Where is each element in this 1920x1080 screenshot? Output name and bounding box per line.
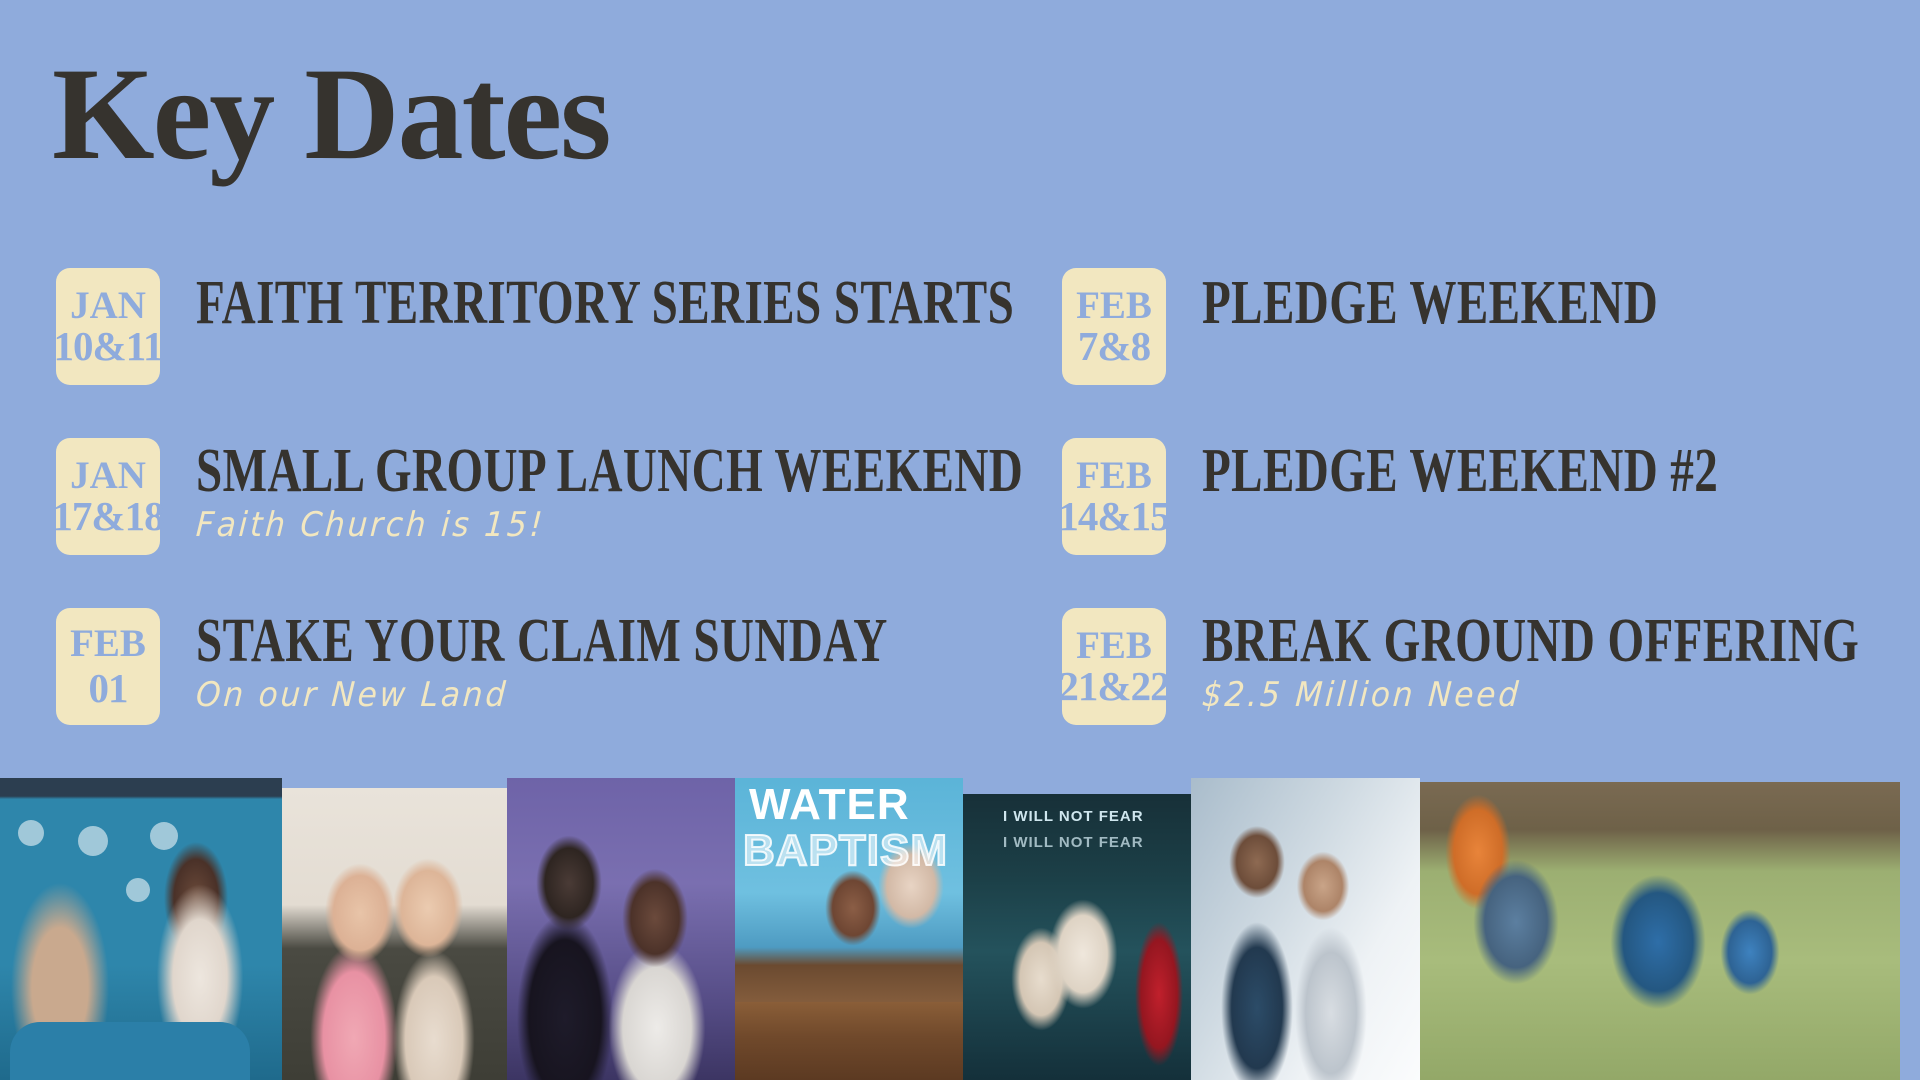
date-badge: JAN 17&18 xyxy=(56,438,160,555)
baptism-overlay-top: WATER xyxy=(749,784,910,826)
key-dates-slide: Key Dates JAN 10&11 FAITH TERRITORY SERI… xyxy=(0,0,1920,1080)
event-heading: BREAK GROUND OFFERING xyxy=(1202,610,1749,673)
badge-day: 01 xyxy=(89,667,128,710)
event-subtitle: Faith Church is 15! xyxy=(195,507,1025,544)
date-text-block: FAITH TERRITORY SERIES STARTS xyxy=(196,272,1096,335)
logo-dot-icon xyxy=(126,878,150,902)
date-badge: JAN 10&11 xyxy=(56,268,160,385)
date-badge: FEB 21&22 xyxy=(1062,608,1166,725)
badge-day: 14&15 xyxy=(1058,495,1169,538)
photo-content xyxy=(1191,778,1420,1080)
badge-month: FEB xyxy=(70,625,146,663)
stage-screen-line-2: I WILL NOT FEAR xyxy=(1003,834,1144,851)
baptism-tank-shape xyxy=(735,1002,963,1080)
date-text-block: SMALL GROUP LAUNCH WEEKEND Faith Church … xyxy=(196,440,1096,545)
badge-day: 21&22 xyxy=(1058,665,1169,708)
date-row: JAN 17&18 SMALL GROUP LAUNCH WEEKEND Fai… xyxy=(56,438,1066,608)
event-subtitle: On our New Land xyxy=(195,677,1025,714)
badge-month: JAN xyxy=(70,457,146,495)
photo-content xyxy=(1420,782,1900,1080)
event-subtitle: $2.5 Million Need xyxy=(1201,677,1866,714)
date-row: FEB 14&15 PLEDGE WEEKEND #2 xyxy=(1062,438,1912,608)
logo-dot-icon xyxy=(150,822,178,850)
worship-congregation-photo xyxy=(507,778,735,1080)
event-heading: FAITH TERRITORY SERIES STARTS xyxy=(196,272,880,335)
date-text-block: BREAK GROUND OFFERING $2.5 Million Need xyxy=(1202,610,1920,715)
badge-month: JAN xyxy=(70,287,146,325)
date-row: JAN 10&11 FAITH TERRITORY SERIES STARTS xyxy=(56,268,1066,438)
badge-month: FEB xyxy=(1076,287,1152,325)
photo-strip: WATER BAPTISM I WILL NOT FEAR I WILL NOT… xyxy=(0,778,1920,1080)
date-row: FEB 21&22 BREAK GROUND OFFERING $2.5 Mil… xyxy=(1062,608,1912,778)
badge-day: 17&18 xyxy=(52,495,163,538)
logo-dot-icon xyxy=(78,826,108,856)
date-text-block: PLEDGE WEEKEND xyxy=(1202,272,1920,335)
worship-stage-photo: I WILL NOT FEAR I WILL NOT FEAR xyxy=(963,794,1191,1080)
date-badge: FEB 01 xyxy=(56,608,160,725)
photo-content xyxy=(282,788,507,1080)
right-date-column: FEB 7&8 PLEDGE WEEKEND FEB 14&15 PLEDGE … xyxy=(1062,268,1912,778)
outdoor-family-photo xyxy=(1420,782,1900,1080)
date-row: FEB 7&8 PLEDGE WEEKEND xyxy=(1062,268,1912,438)
stage-screen-line-1: I WILL NOT FEAR xyxy=(1003,808,1144,825)
badge-month: FEB xyxy=(1076,457,1152,495)
date-text-block: PLEDGE WEEKEND #2 xyxy=(1202,440,1920,503)
date-badge: FEB 14&15 xyxy=(1062,438,1166,555)
logo-dot-icon xyxy=(18,820,44,846)
baptism-overlay-bottom: BAPTISM xyxy=(743,830,948,872)
water-baptism-photo: WATER BAPTISM xyxy=(735,778,963,1080)
event-heading: STAKE YOUR CLAIM SUNDAY xyxy=(196,610,880,673)
event-heading: PLEDGE WEEKEND xyxy=(1202,272,1749,335)
date-text-block: STAKE YOUR CLAIM SUNDAY On our New Land xyxy=(196,610,1096,715)
two-girls-couch-photo xyxy=(282,788,507,1080)
welcome-desk-photo xyxy=(0,778,282,1080)
event-heading: PLEDGE WEEKEND #2 xyxy=(1202,440,1749,503)
page-title: Key Dates xyxy=(52,48,610,180)
desk-shape xyxy=(10,1022,250,1080)
date-row: FEB 01 STAKE YOUR CLAIM SUNDAY On our Ne… xyxy=(56,608,1066,778)
left-date-column: JAN 10&11 FAITH TERRITORY SERIES STARTS … xyxy=(56,268,1066,778)
photo-content xyxy=(507,778,735,1080)
badge-day: 10&11 xyxy=(54,325,163,368)
date-badge: FEB 7&8 xyxy=(1062,268,1166,385)
men-praying-photo xyxy=(1191,778,1420,1080)
event-heading: SMALL GROUP LAUNCH WEEKEND xyxy=(196,440,880,503)
badge-month: FEB xyxy=(1076,627,1152,665)
badge-day: 7&8 xyxy=(1078,325,1150,368)
